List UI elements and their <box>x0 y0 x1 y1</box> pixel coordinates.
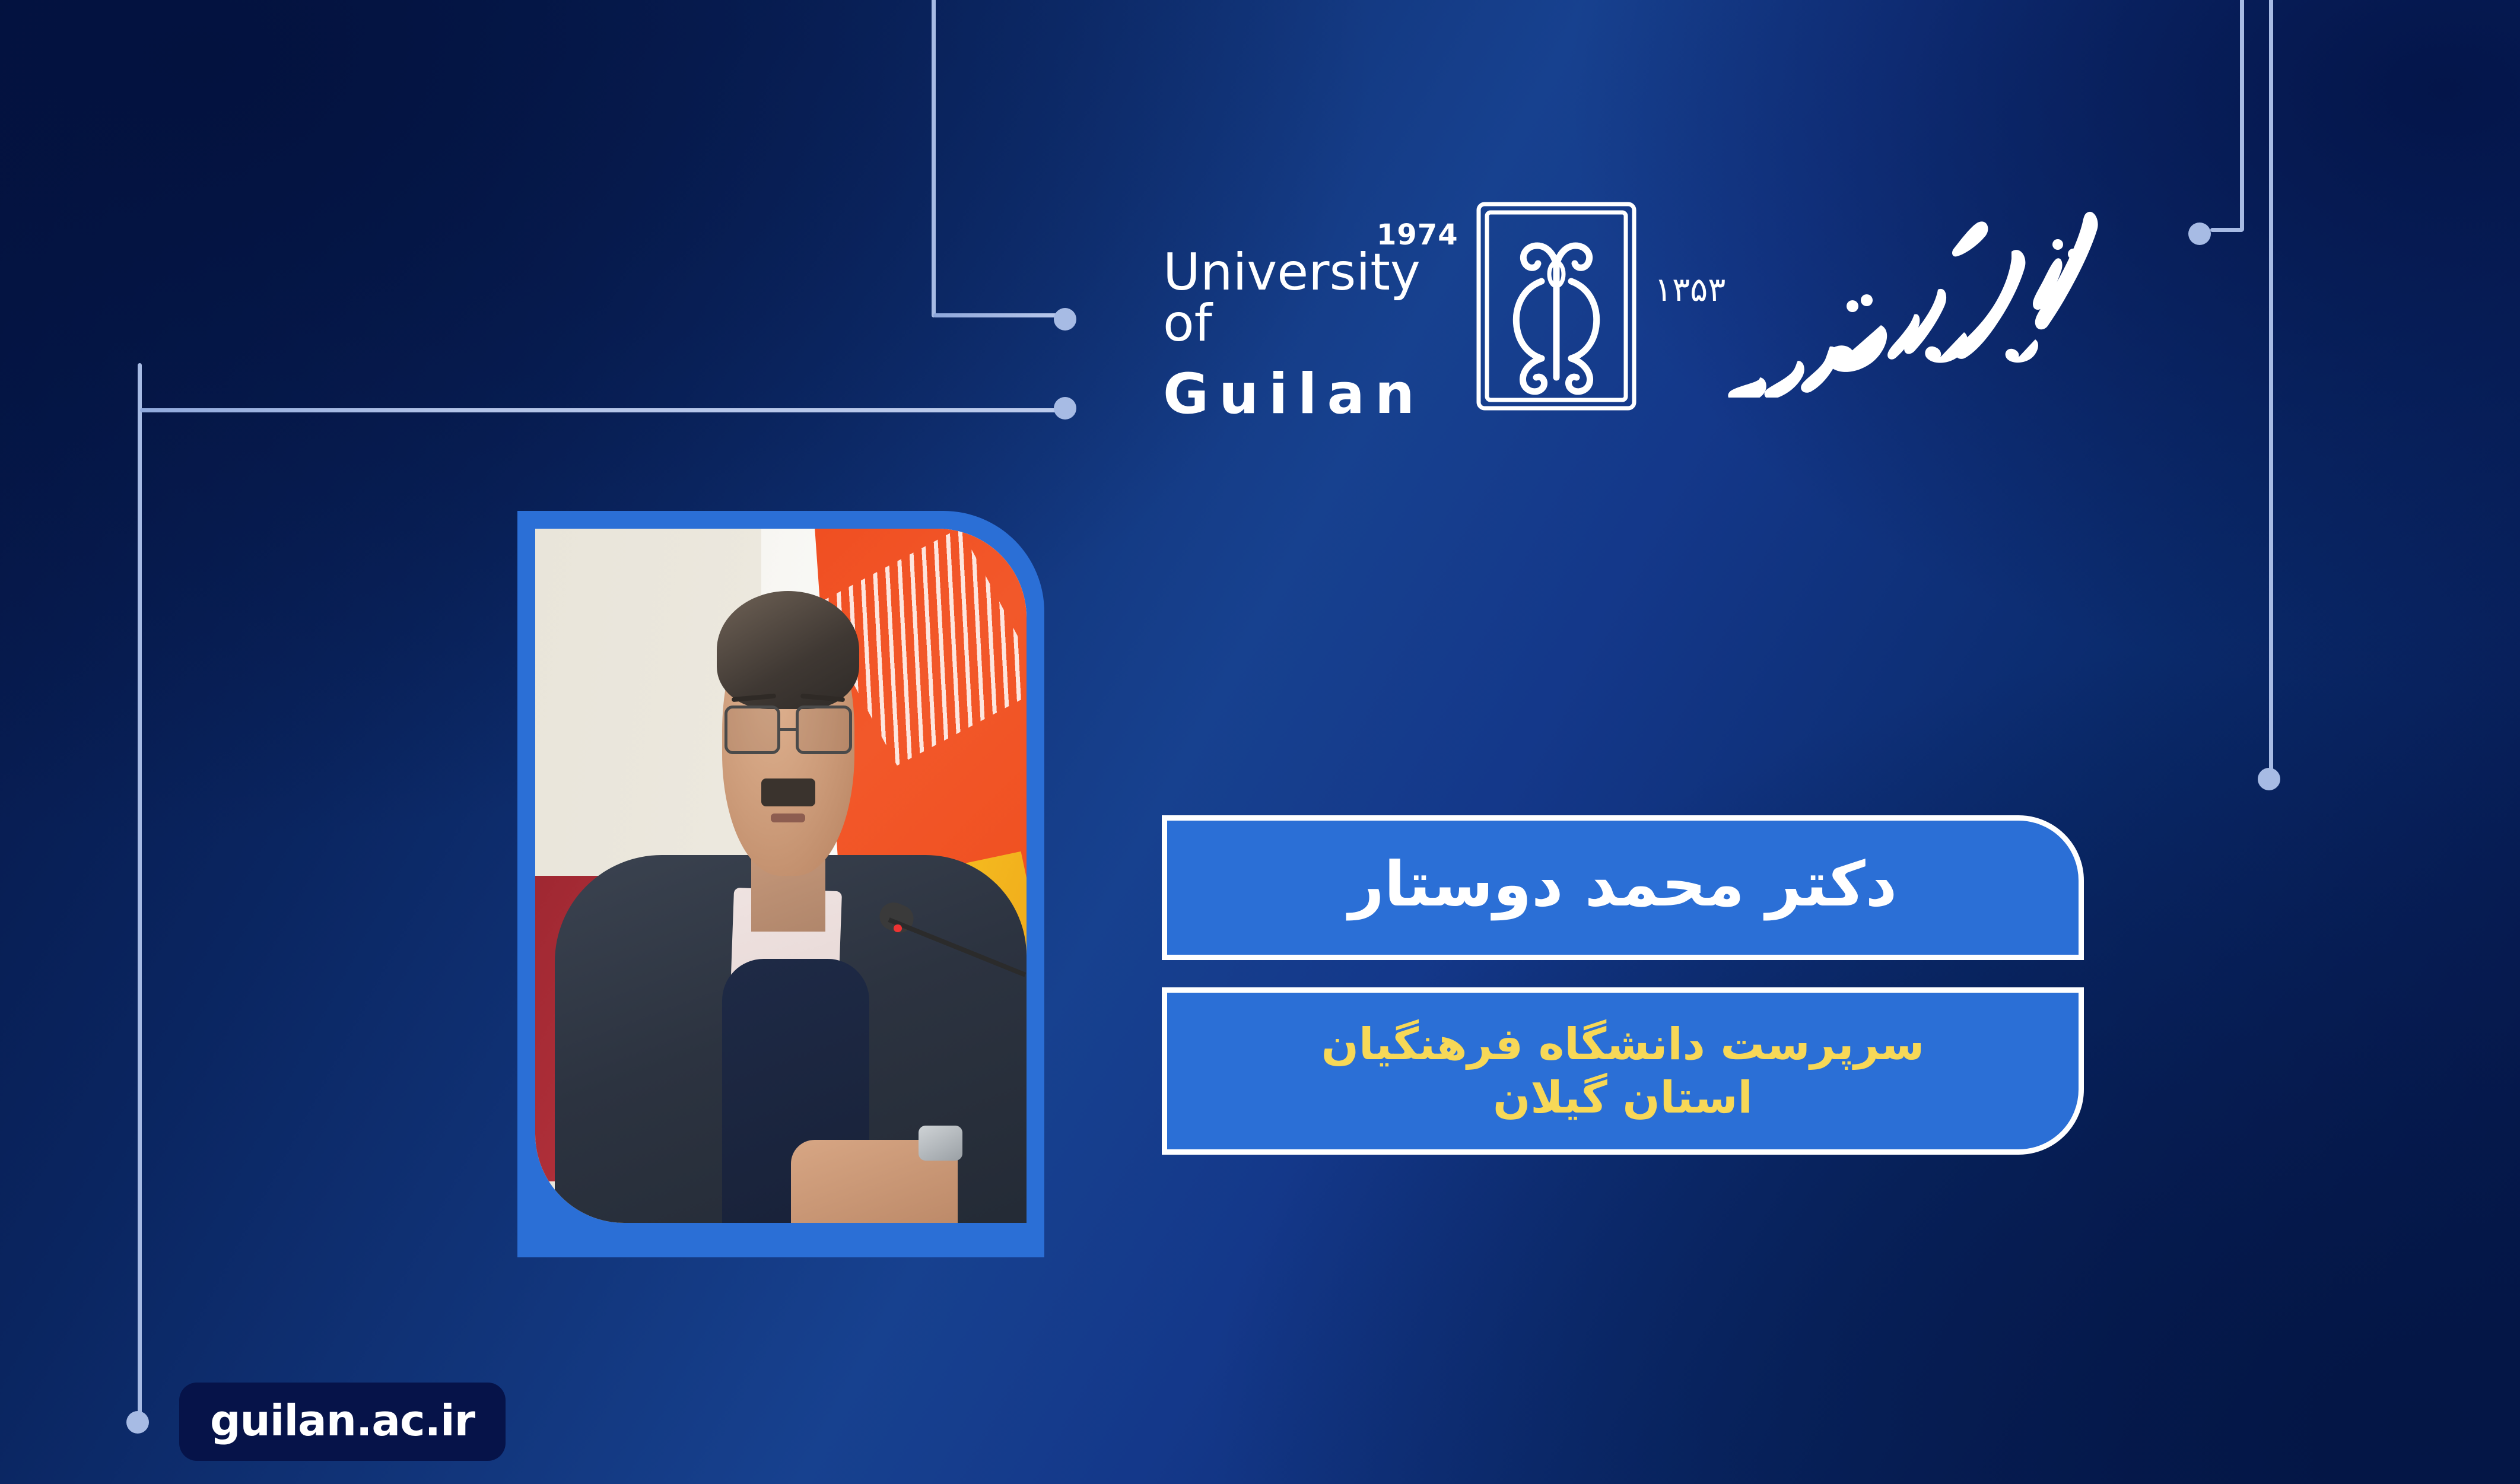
photo-hair <box>717 591 859 709</box>
eyeglasses-icon <box>724 706 852 754</box>
photo-moustache <box>761 778 815 806</box>
logo-year-gregorian: 1974 <box>1377 218 1458 252</box>
decor-horizontal-line-top-right <box>2210 228 2243 232</box>
portrait-photo <box>535 529 1027 1223</box>
person-title-banner: سرپرست دانشگاه فرهنگیان استان گیلان <box>1162 987 2084 1155</box>
person-title-line1: سرپرست دانشگاه فرهنگیان <box>1321 1018 1924 1071</box>
logo-english-line1: University of <box>1163 247 1472 349</box>
guilan-university-emblem-icon <box>1466 199 1647 413</box>
logo-english-wordmark: University of Guilan <box>1163 247 1472 422</box>
decor-vertical-line-left <box>138 363 142 1425</box>
decor-dot-top-right <box>2188 223 2211 245</box>
decor-dot-center-upper <box>1054 308 1076 331</box>
decor-dot-right-edge <box>2258 768 2280 790</box>
decor-vertical-line-top-right <box>2240 0 2244 231</box>
decor-dot-bottom-left <box>126 1411 149 1434</box>
person-name: دکتر محمد دوستار <box>1349 853 1897 915</box>
logo-persian-wordmark <box>1703 202 2112 398</box>
photo-wristwatch <box>919 1126 963 1161</box>
photo-mouth <box>771 814 805 822</box>
announcement-banner: University of Guilan 1974 <box>0 0 2520 1484</box>
logo-english-line2: Guilan <box>1163 367 1472 422</box>
person-title-line2: استان گیلان <box>1493 1071 1753 1124</box>
decor-horizontal-line-center <box>933 313 1069 317</box>
website-url: guilan.ac.ir <box>210 1396 475 1445</box>
decor-vertical-line-center <box>932 0 936 317</box>
decor-horizontal-line-lower <box>140 408 1067 412</box>
photo-microphone-led <box>894 924 901 932</box>
portrait-frame <box>517 511 1044 1257</box>
website-badge[interactable]: guilan.ac.ir <box>179 1383 506 1461</box>
decor-vertical-line-right-edge <box>2269 0 2273 771</box>
university-logo: University of Guilan 1974 <box>1157 196 2112 445</box>
decor-dot-center-lower <box>1054 397 1076 420</box>
person-name-banner: دکتر محمد دوستار <box>1162 815 2084 960</box>
